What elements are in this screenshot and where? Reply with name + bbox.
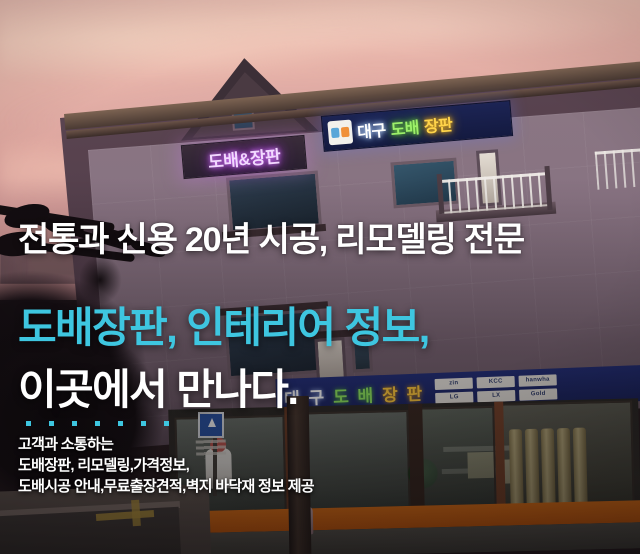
decorative-dot-row [26,421,169,426]
headline-line-1: 도배장판, 인테리어 정보, [18,294,429,355]
subtext-line-1: 고객과 소통하는 [18,434,314,455]
decorative-dot [164,421,169,426]
decorative-dot [26,421,31,426]
subtext-block: 고객과 소통하는 도배장판, 리모델링,가격정보, 도배시공 안내,무료출장견적… [18,434,314,497]
decorative-dot [118,421,123,426]
promo-banner: 도배&장판 대구 도배 장판 대 구 도 배 장 판 zin KCC hanwh… [0,0,640,554]
decorative-dot [141,421,146,426]
decorative-dot [49,421,54,426]
decorative-dot [95,421,100,426]
text-overlay: 전통과 신용 20년 시공, 리모델링 전문 도배장판, 인테리어 정보, 이곳… [0,0,640,554]
subtext-line-3: 도배시공 안내,무료출장견적,벽지 바닥재 정보 제공 [18,476,314,497]
decorative-dot [72,421,77,426]
subtext-line-2: 도배장판, 리모델링,가격정보, [18,455,314,476]
headline-line-2: 이곳에서 만나다. [18,356,297,417]
tagline: 전통과 신용 20년 시공, 리모델링 전문 [18,212,524,261]
